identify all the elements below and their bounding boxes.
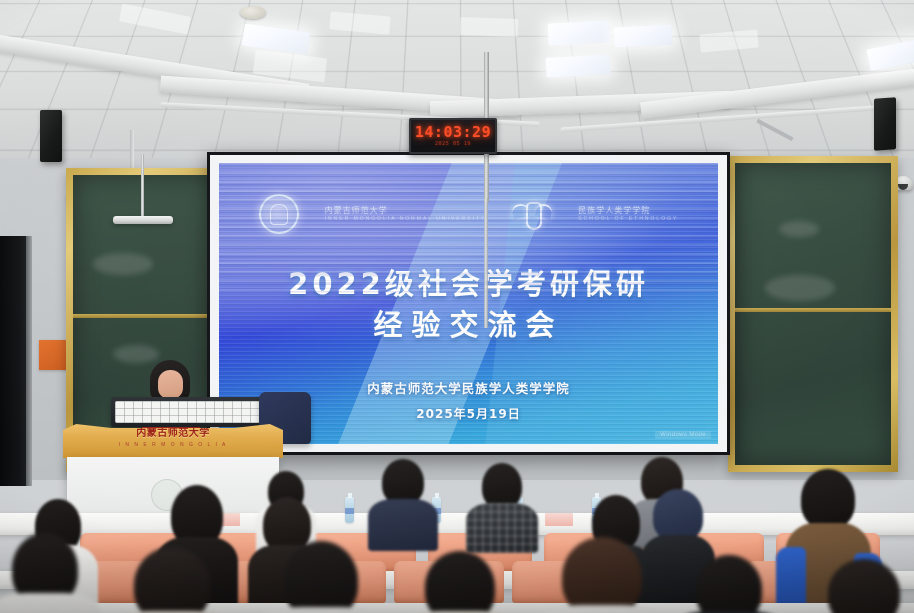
slide-title-line-1: 2022级社会学考研保研 [219, 264, 718, 305]
ceiling-panel-light [546, 54, 611, 77]
person-head [828, 559, 900, 613]
slide-logo-row: 内蒙古师范大学 INNER MONGOLIA NORMAL UNIVERSITY… [219, 194, 718, 234]
audience-person-front [540, 537, 664, 613]
green-chalkboard-right [728, 156, 898, 472]
desk-row-back [0, 513, 914, 535]
lecture-hall-photo: 14:03:29 2025 05 19 内蒙古师范大学 INNER MONGOL… [0, 0, 914, 613]
clock-date-display: 2025 05 19 [435, 142, 471, 147]
ceiling-panel-light [614, 24, 673, 47]
audience-person-front [676, 555, 782, 613]
slide-title-line-2: 经验交流会 [219, 305, 718, 346]
wings-core-icon [526, 202, 542, 230]
person-head [562, 537, 642, 613]
chalkboard-lamp-rod [141, 154, 144, 216]
wall-speaker-left [40, 110, 62, 162]
wings-emblem-icon [512, 197, 552, 231]
person-head [801, 469, 855, 529]
person-head [134, 547, 210, 613]
smoke-detector-icon [240, 6, 266, 19]
presenter-face [158, 370, 183, 399]
person-cap [653, 489, 703, 541]
logo-right-name: 民族学人类学学院 [578, 206, 678, 216]
logo-left-wordmark: 内蒙古师范大学 INNER MONGOLIA NORMAL UNIVERSITY [325, 206, 487, 222]
person-body [466, 503, 538, 553]
clock-time-display: 14:03:29 [415, 125, 491, 140]
audience-person [466, 463, 538, 543]
chalkboard-lamp [113, 216, 173, 224]
ceiling-panel-light [547, 20, 610, 45]
audience-person-front [806, 559, 914, 613]
slide-watermark: Windows Mode [655, 431, 711, 439]
wall-speaker-right [874, 97, 896, 151]
person-body [262, 607, 380, 613]
audience-person-front [262, 541, 380, 613]
ceiling-dim-panel [460, 17, 519, 37]
audience-person-front [112, 547, 232, 613]
podium-inscription-sub: I N N E R M O N G O L I A [63, 442, 283, 448]
side-doorway [0, 236, 28, 486]
logo-right-wordmark: 民族学人类学学院 SCHOOL OF ETHNOLOGY [578, 206, 678, 222]
wall-led-clock: 14:03:29 2025 05 19 [409, 118, 497, 154]
person-head [696, 555, 762, 613]
podium-keyboard [115, 401, 267, 423]
side-doorway-edge [26, 236, 32, 486]
podium-inscription: 内蒙古师范大学 [63, 429, 283, 440]
person-head [425, 551, 495, 613]
person-body [0, 593, 100, 613]
nameplate [545, 513, 573, 526]
chalk-smudge [779, 221, 819, 237]
audience-person [368, 459, 438, 541]
logo-left-name: 内蒙古师范大学 [325, 206, 487, 216]
slide-title: 2022级社会学考研保研 经验交流会 [219, 264, 718, 346]
podium-control-panel [111, 397, 271, 427]
audience-area [0, 455, 914, 613]
logo-right-sub: SCHOOL OF ETHNOLOGY [578, 216, 678, 222]
water-bottle [345, 497, 354, 523]
chalkboard-surface [735, 163, 891, 465]
university-seal-icon [259, 194, 299, 234]
person-head [284, 541, 358, 613]
logo-left-sub: INNER MONGOLIA NORMAL UNIVERSITY [325, 216, 487, 222]
audience-person-front [0, 533, 100, 613]
chalk-smudge [765, 275, 835, 301]
chalk-smudge [93, 253, 153, 275]
projector-mount-pole-lower [484, 198, 488, 328]
podium-wood-panel: 内蒙古师范大学 I N N E R M O N G O L I A [63, 424, 283, 458]
person-body [540, 605, 664, 613]
audience-person-front [404, 551, 516, 613]
